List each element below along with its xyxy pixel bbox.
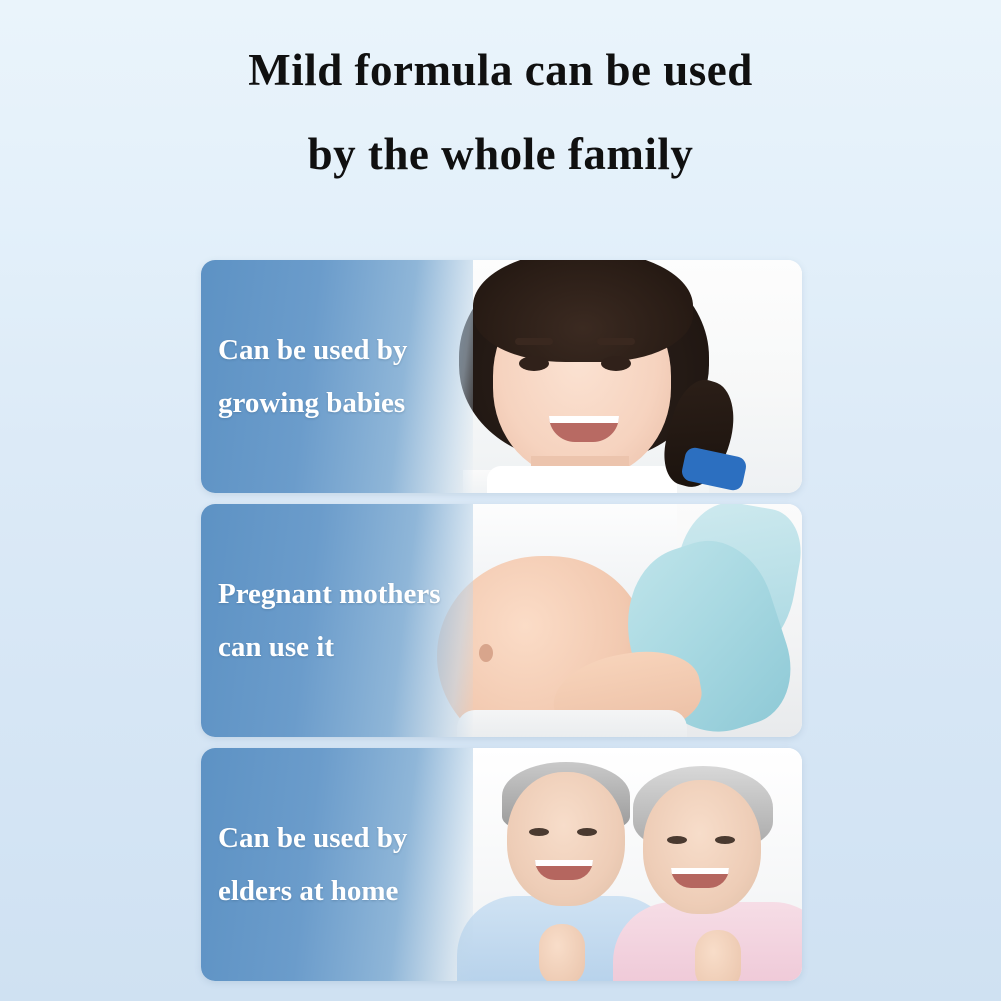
card-label-panel-pregnant: Pregnant mothers can use it xyxy=(201,504,473,737)
feature-card-pregnant: Pregnant mothers can use it xyxy=(201,504,802,737)
promo-page: Mild formula can be used by the whole fa… xyxy=(0,0,1001,1001)
card-label-text-pregnant: Pregnant mothers can use it xyxy=(218,568,455,674)
card-label-text-elders: Can be used by elders at home xyxy=(218,812,455,918)
page-title: Mild formula can be used by the whole fa… xyxy=(0,28,1001,196)
card-label-text-babies: Can be used by growing babies xyxy=(218,324,455,430)
feature-card-babies: Can be used by growing babies xyxy=(201,260,802,493)
feature-card-elders: Can be used by elders at home xyxy=(201,748,802,981)
page-title-line-2: by the whole family xyxy=(0,112,1001,196)
card-label-panel-elders: Can be used by elders at home xyxy=(201,748,473,981)
page-title-line-1: Mild formula can be used xyxy=(0,28,1001,112)
card-label-panel-babies: Can be used by growing babies xyxy=(201,260,473,493)
